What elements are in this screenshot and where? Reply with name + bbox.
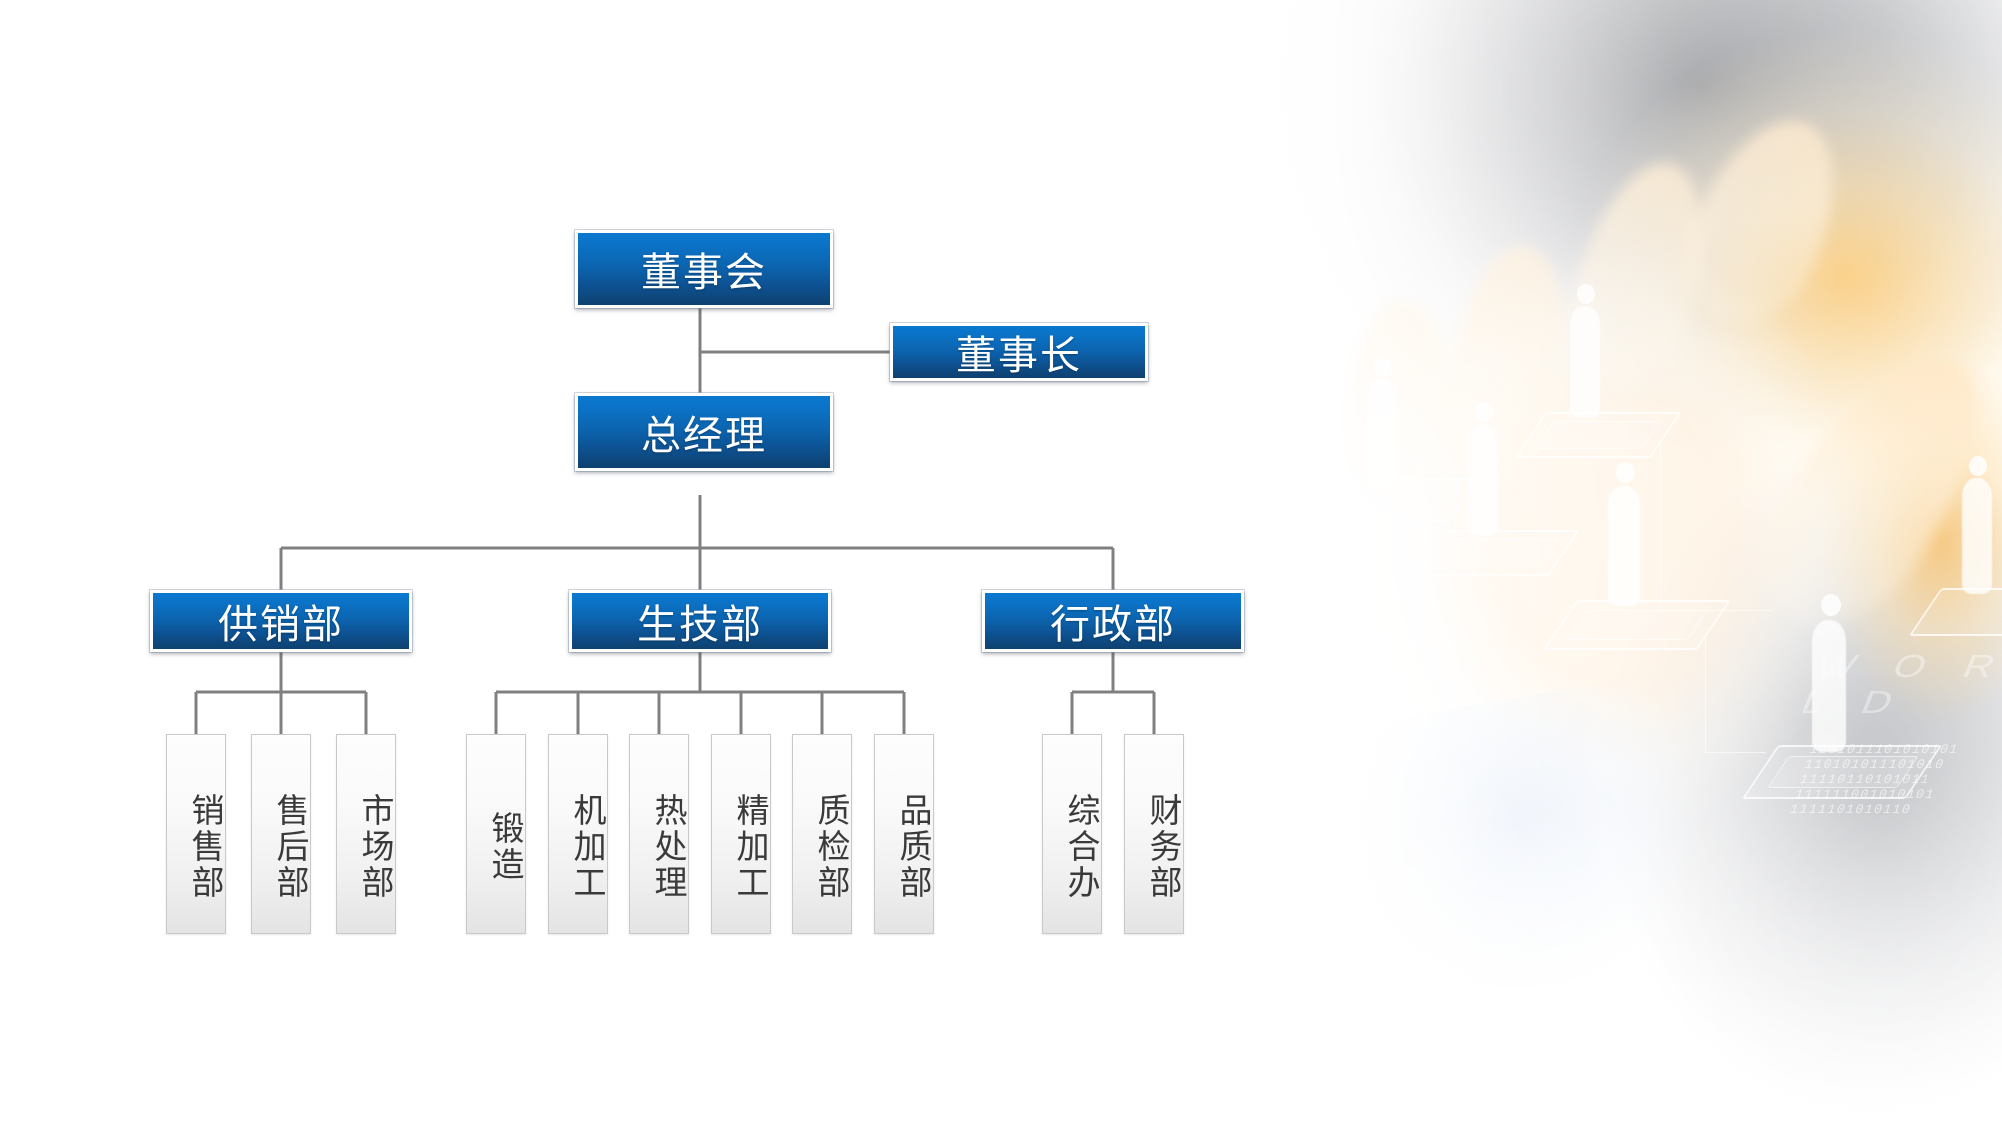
node-leaf-quality-inspection[interactable]: 质检部 [792, 734, 852, 934]
node-board[interactable]: 董事会 [575, 230, 833, 308]
node-leaf-sales[interactable]: 销售部 [166, 734, 226, 934]
node-department-administration[interactable]: 行政部 [982, 590, 1244, 652]
node-leaf-precision-machining[interactable]: 精加工 [711, 734, 771, 934]
node-leaf-heat-treatment[interactable]: 热处理 [629, 734, 689, 934]
node-leaf-quality-assurance[interactable]: 品质部 [874, 734, 934, 934]
node-general-manager[interactable]: 总经理 [575, 393, 833, 471]
node-leaf-forging[interactable]: 锻造 [466, 734, 526, 934]
node-leaf-marketing[interactable]: 市场部 [336, 734, 396, 934]
org-chart: 董事会 董事长 总经理 供销部 生技部 行政部 销售部 售后部 市场部 锻造 机… [0, 0, 2002, 1126]
node-department-supply-sales[interactable]: 供销部 [150, 590, 412, 652]
node-leaf-machining[interactable]: 机加工 [548, 734, 608, 934]
node-leaf-finance[interactable]: 财务部 [1124, 734, 1184, 934]
org-chart-slide: W O R L D 1201011101010101 1101010111010… [0, 0, 2002, 1126]
node-leaf-after-sales[interactable]: 售后部 [251, 734, 311, 934]
node-chairman[interactable]: 董事长 [890, 323, 1148, 381]
node-department-production-tech[interactable]: 生技部 [569, 590, 831, 652]
connector-lines [0, 0, 2002, 1126]
node-leaf-general-office[interactable]: 综合办 [1042, 734, 1102, 934]
